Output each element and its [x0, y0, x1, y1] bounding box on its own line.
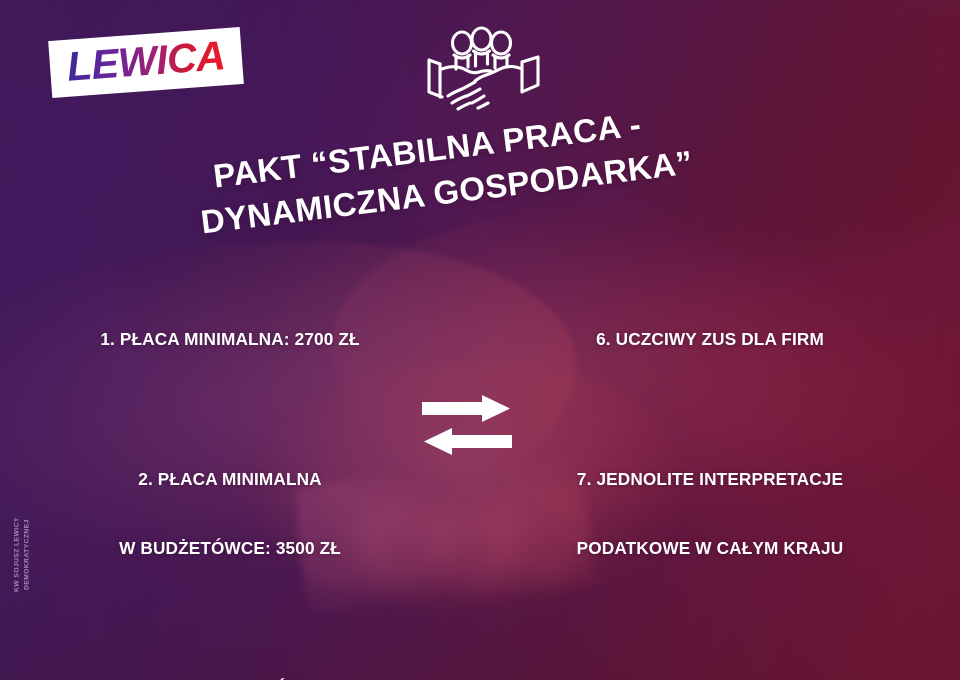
list-item-line: W BUDŻETÓWCE: 3500 ZŁ: [40, 537, 420, 560]
postulates-left-column: 1. PŁACA MINIMALNA: 2700 ZŁ 2. PŁACA MIN…: [40, 282, 420, 680]
committee-line-1: KW SOJUSZ LEWICY: [12, 500, 22, 610]
list-item: 3. KONIEC UMÓW ŚMIECIOWYCH: [40, 631, 420, 680]
lewica-logo[interactable]: LEWICA: [48, 27, 244, 98]
list-item-line: 1. PŁACA MINIMALNA: 2700 ZŁ: [40, 328, 420, 351]
list-item-line: PODATKOWE W CAŁYM KRAJU: [500, 537, 920, 560]
list-item: 6. UCZCIWY ZUS DLA FIRM: [500, 282, 920, 396]
list-item: 2. PŁACA MINIMALNA W BUDŻETÓWCE: 3500 ZŁ: [40, 422, 420, 605]
list-item-line: 7. JEDNOLITE INTERPRETACJE: [500, 468, 920, 491]
two-way-arrows-icon: [420, 394, 514, 456]
list-item: 8. PEŁNE ROZLICZENIE FIRM PRZEZ INTERNET: [500, 631, 920, 680]
postulates-right-column: 6. UCZCIWY ZUS DLA FIRM 7. JEDNOLITE INT…: [500, 282, 920, 680]
list-item: 1. PŁACA MINIMALNA: 2700 ZŁ: [40, 282, 420, 396]
logo-plate: LEWICA: [48, 27, 244, 98]
poster: LEWICA: [0, 0, 960, 680]
logo-text: LEWICA: [66, 35, 227, 87]
list-item: 7. JEDNOLITE INTERPRETACJE PODATKOWE W C…: [500, 422, 920, 605]
committee-line-2: DEMOKRATYCZNEJ: [22, 500, 32, 610]
committee-credit: KW SOJUSZ LEWICY DEMOKRATYCZNEJ: [12, 500, 31, 610]
handshake-people-icon: [418, 22, 543, 114]
poster-content: LEWICA: [0, 0, 960, 680]
list-item-line: 6. UCZCIWY ZUS DLA FIRM: [500, 328, 920, 351]
list-item-line: 2. PŁACA MINIMALNA: [40, 468, 420, 491]
